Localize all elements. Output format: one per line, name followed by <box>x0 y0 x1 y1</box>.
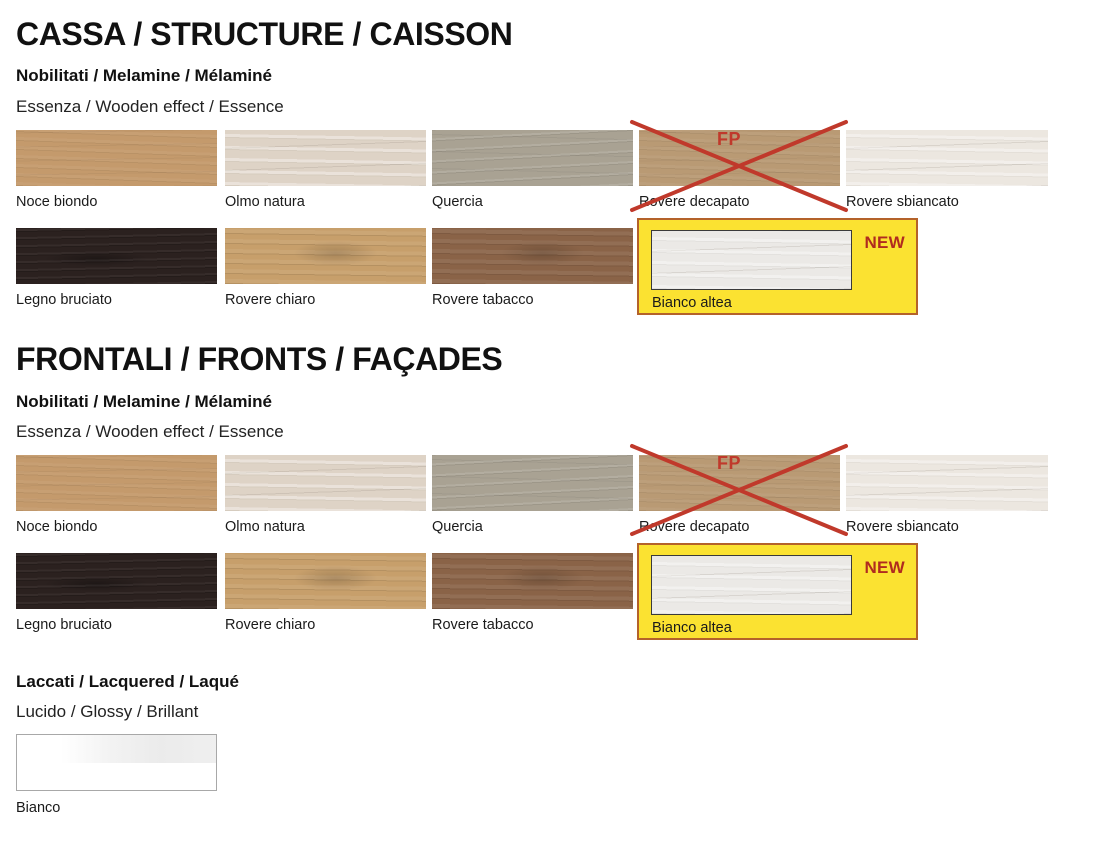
swatch-label: Rovere chiaro <box>225 609 426 633</box>
swatch-rovere-tabacco[interactable]: Rovere tabacco <box>432 553 633 649</box>
section-subsubtitle-frontali: Essenza / Wooden effect / Essence <box>16 423 284 440</box>
wood-grain-texture <box>432 130 633 186</box>
swatch-chip <box>225 130 426 186</box>
wood-grain-texture <box>432 228 633 284</box>
finishes-page: CASSA / STRUCTURE / CAISSON Nobilitati /… <box>0 0 1098 852</box>
swatch-label: Noce biondo <box>16 511 217 535</box>
section-subsubtitle-cassa: Essenza / Wooden effect / Essence <box>16 98 284 115</box>
swatch-bianco-altea[interactable] <box>651 230 852 290</box>
swatch-label: Rovere sbiancato <box>846 186 1047 210</box>
section-title-cassa: CASSA / STRUCTURE / CAISSON <box>16 18 513 50</box>
swatch-label: Bianco <box>16 801 60 816</box>
swatch-bianco-altea[interactable] <box>651 555 852 615</box>
swatch-bianco-glossy[interactable] <box>16 734 217 791</box>
new-highlight-box-cassa[interactable]: Bianco altea NEW <box>637 218 918 315</box>
swatch-label: Olmo natura <box>225 186 426 210</box>
swatch-chip <box>432 228 633 284</box>
swatch-noce-biondo[interactable]: Noce biondo <box>16 130 217 226</box>
swatch-chip <box>16 553 217 609</box>
swatch-label: Quercia <box>432 511 633 535</box>
swatch-chip <box>16 228 217 284</box>
swatch-label: Olmo natura <box>225 511 426 535</box>
swatch-rovere-tabacco[interactable]: Rovere tabacco <box>432 228 633 324</box>
wood-grain-texture <box>652 556 851 614</box>
swatch-label: Rovere tabacco <box>432 284 633 308</box>
swatch-legno-bruciato[interactable]: Legno bruciato <box>16 553 217 649</box>
swatch-label: Bianco altea <box>652 621 732 636</box>
swatch-chip <box>225 553 426 609</box>
swatch-label: Noce biondo <box>16 186 217 210</box>
wood-grain-texture <box>225 553 426 609</box>
swatch-quercia[interactable]: Quercia <box>432 455 633 551</box>
section-subsubtitle-laccati: Lucido / Glossy / Brillant <box>16 703 198 720</box>
swatch-row-cassa-1: Noce biondo Olmo natura Quercia Rovere d… <box>0 130 1098 226</box>
swatch-legno-bruciato[interactable]: Legno bruciato <box>16 228 217 324</box>
wood-grain-texture <box>432 455 633 511</box>
swatch-chip <box>846 130 1048 186</box>
swatch-row-frontali-1: Noce biondo Olmo natura Quercia Rovere d… <box>0 455 1098 551</box>
wood-grain-texture <box>16 455 217 511</box>
new-badge: NEW <box>864 234 905 251</box>
section-subtitle-cassa: Nobilitati / Melamine / Mélaminé <box>16 67 272 84</box>
swatch-label: Quercia <box>432 186 633 210</box>
swatch-chip <box>432 553 633 609</box>
swatch-label: Bianco altea <box>652 296 732 311</box>
swatch-rovere-chiaro[interactable]: Rovere chiaro <box>225 228 426 324</box>
wood-grain-texture <box>432 553 633 609</box>
wood-grain-texture <box>16 228 217 284</box>
swatch-chip <box>225 228 426 284</box>
swatch-label: Rovere chiaro <box>225 284 426 308</box>
new-highlight-box-frontali[interactable]: Bianco altea NEW <box>637 543 918 640</box>
swatch-row-cassa-2: Legno bruciato Rovere chiaro Rovere taba… <box>0 228 1098 324</box>
swatch-row-frontali-2: Legno bruciato Rovere chiaro Rovere taba… <box>0 553 1098 649</box>
swatch-chip <box>432 130 633 186</box>
swatch-olmo-natura[interactable]: Olmo natura <box>225 455 426 551</box>
swatch-rovere-sbiancato[interactable]: Rovere sbiancato <box>846 130 1047 226</box>
swatch-chip <box>16 130 217 186</box>
swatch-quercia[interactable]: Quercia <box>432 130 633 226</box>
swatch-chip <box>16 455 217 511</box>
swatch-chip <box>846 455 1048 511</box>
wood-grain-texture <box>652 231 851 289</box>
gloss-sheen <box>17 735 216 763</box>
swatch-chip <box>225 455 426 511</box>
wood-grain-texture <box>16 130 217 186</box>
section-title-frontali: FRONTALI / FRONTS / FAÇADES <box>16 343 502 375</box>
swatch-label: Rovere tabacco <box>432 609 633 633</box>
swatch-label: Legno bruciato <box>16 609 217 633</box>
swatch-label: Rovere decapato <box>639 511 840 535</box>
section-subtitle-laccati: Laccati / Lacquered / Laqué <box>16 673 239 690</box>
new-badge: NEW <box>864 559 905 576</box>
swatch-label: Rovere decapato <box>639 186 840 210</box>
swatch-olmo-natura[interactable]: Olmo natura <box>225 130 426 226</box>
section-subtitle-frontali: Nobilitati / Melamine / Mélaminé <box>16 393 272 410</box>
swatch-noce-biondo[interactable]: Noce biondo <box>16 455 217 551</box>
wood-grain-texture <box>846 130 1048 186</box>
wood-grain-texture <box>225 228 426 284</box>
fp-marker-label: FP <box>717 130 741 148</box>
wood-grain-texture <box>16 553 217 609</box>
swatch-rovere-sbiancato[interactable]: Rovere sbiancato <box>846 455 1047 551</box>
wood-grain-texture <box>225 130 426 186</box>
swatch-label: Rovere sbiancato <box>846 511 1047 535</box>
wood-grain-texture <box>846 455 1048 511</box>
swatch-label: Legno bruciato <box>16 284 217 308</box>
swatch-rovere-chiaro[interactable]: Rovere chiaro <box>225 553 426 649</box>
wood-grain-texture <box>225 455 426 511</box>
swatch-chip <box>432 455 633 511</box>
fp-marker-label: FP <box>717 454 741 472</box>
